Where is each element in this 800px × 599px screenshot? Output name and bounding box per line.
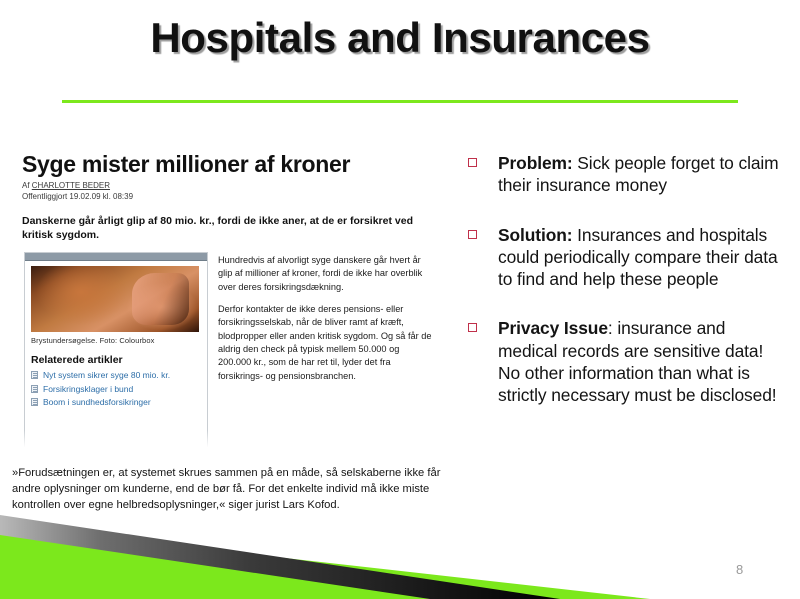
bullet-item-privacy: Privacy Issue: insurance and medical rec…	[462, 317, 788, 406]
document-icon	[31, 385, 38, 393]
square-bullet-icon	[468, 323, 477, 332]
page-title: Hospitals and Insurances	[150, 14, 649, 62]
title-block: Hospitals and Insurances	[0, 14, 800, 62]
photo-caption: Brystundersøgelse. Foto: Colourbox	[31, 336, 201, 345]
list-item[interactable]: Nyt system sikrer syge 80 mio. kr.	[31, 370, 201, 381]
article-pull-quote: »Forudsætningen er, at systemet skrues s…	[12, 466, 444, 514]
square-bullet-icon	[468, 230, 477, 239]
article-headline: Syge mister millioner af kroner	[22, 152, 440, 176]
bullet-text: Problem: Sick people forget to claim the…	[498, 152, 788, 197]
article-media-box: Brystundersøgelse. Foto: Colourbox Relat…	[24, 252, 208, 448]
bullet-text: Privacy Issue: insurance and medical rec…	[498, 317, 788, 406]
related-articles-list: Nyt system sikrer syge 80 mio. kr. Forsi…	[31, 370, 201, 408]
article-text-column: Hundredvis af alvorligt syge danskere gå…	[218, 254, 434, 392]
byline-prefix: Af	[22, 181, 32, 190]
article-body: Brystundersøgelse. Foto: Colourbox Relat…	[22, 252, 440, 462]
article-byline: Af CHARLOTTE BEDER Offentliggjort 19.02.…	[22, 181, 440, 203]
bullet-item-solution: Solution: Insurances and hospitals could…	[462, 224, 788, 291]
bullet-item-problem: Problem: Sick people forget to claim the…	[462, 152, 788, 197]
article-lead: Danskerne går årligt glip af 80 mio. kr.…	[22, 214, 432, 242]
slide: Hospitals and Insurances Syge mister mil…	[0, 0, 800, 599]
list-item[interactable]: Boom i sundhedsforsikringer	[31, 397, 201, 408]
related-link-label: Boom i sundhedsforsikringer	[43, 397, 151, 407]
media-inner: Brystundersøgelse. Foto: Colourbox Relat…	[25, 261, 207, 414]
list-item[interactable]: Forsikringsklager i bund	[31, 384, 201, 395]
related-link-label: Nyt system sikrer syge 80 mio. kr.	[43, 370, 170, 380]
article-photo	[31, 266, 199, 332]
bullet-lead: Problem:	[498, 153, 573, 173]
article-paragraph: Hundredvis af alvorligt syge danskere gå…	[218, 254, 434, 294]
related-articles-heading: Relaterede artikler	[31, 354, 201, 366]
green-band-lower	[0, 526, 650, 599]
square-bullet-icon	[468, 158, 477, 167]
related-link-label: Forsikringsklager i bund	[43, 384, 133, 394]
page-number: 8	[736, 562, 743, 577]
article-paragraph: Derfor kontakter de ikke deres pensions-…	[218, 303, 434, 383]
title-divider	[62, 100, 738, 103]
media-topbar	[25, 253, 207, 261]
document-icon	[31, 398, 38, 406]
document-icon	[31, 371, 38, 379]
bullet-text: Solution: Insurances and hospitals could…	[498, 224, 788, 291]
bullet-list: Problem: Sick people forget to claim the…	[462, 152, 788, 433]
bullet-lead: Privacy Issue	[498, 318, 608, 338]
bullet-lead: Solution:	[498, 225, 572, 245]
article-published: Offentliggjort 19.02.09 kl. 08:39	[22, 192, 133, 201]
byline-author: CHARLOTTE BEDER	[32, 181, 110, 190]
clipping-crop-fade	[22, 430, 222, 458]
